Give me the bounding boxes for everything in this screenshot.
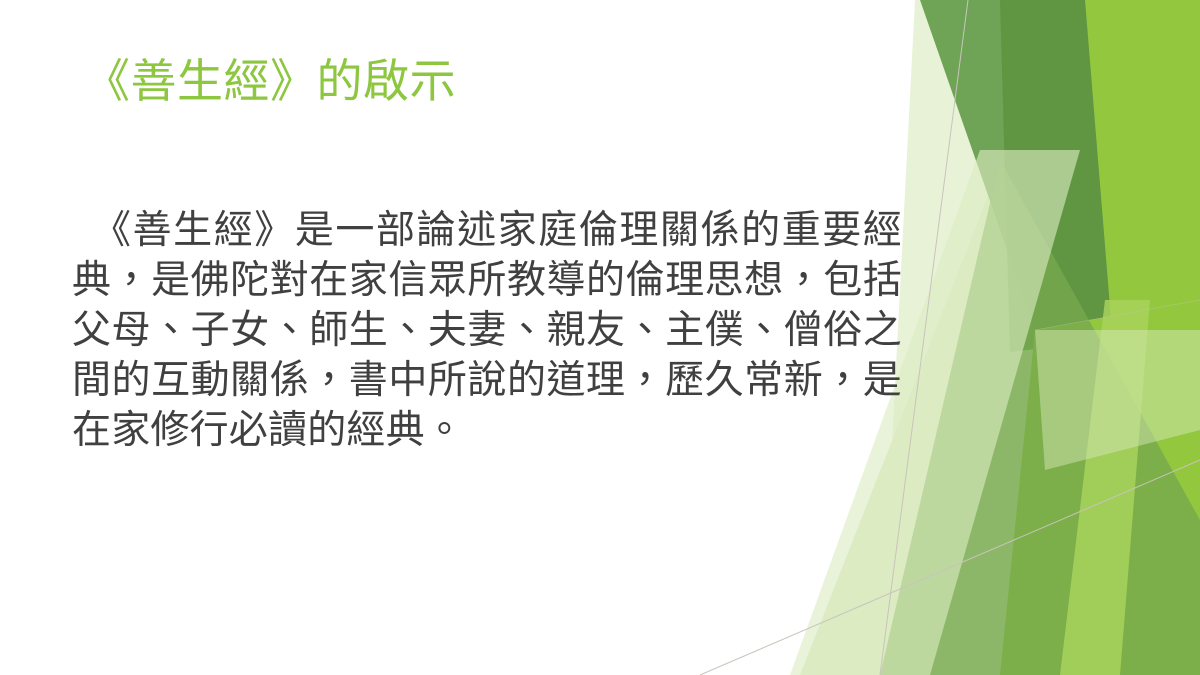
decor-shape-pale-upper [880,0,1060,675]
body-paragraph: 《善生經》是一部論述家庭倫理關係的重要經典，是佛陀對在家信眾所教導的倫理思想，包… [72,206,902,456]
page-title: 《善生經》的啟示 [84,54,844,108]
decor-shape-green-lower-left [880,160,1200,675]
title-placeholder: 《善生經》的啟示 [84,54,844,108]
decor-shape-olive-blade [920,0,1200,330]
presentation-slide: 《善生經》的啟示 《善生經》是一部論述家庭倫理關係的重要經典，是佛陀對在家信眾所… [0,0,1200,675]
decor-shape-lime-lower-right [1000,300,1200,675]
body-placeholder: 《善生經》是一部論述家庭倫理關係的重要經典，是佛陀對在家信眾所教導的倫理思想，包… [72,206,902,456]
decor-shape-lime-right [1085,0,1200,675]
decor-hairline-shallow [700,460,1200,675]
decor-hairline-short [1035,300,1200,330]
decor-shape-pale-overlay-2 [1035,330,1200,470]
decor-shape-dark-wedge [1000,0,1200,352]
decor-shape-light-lime-sliver [1060,300,1150,675]
